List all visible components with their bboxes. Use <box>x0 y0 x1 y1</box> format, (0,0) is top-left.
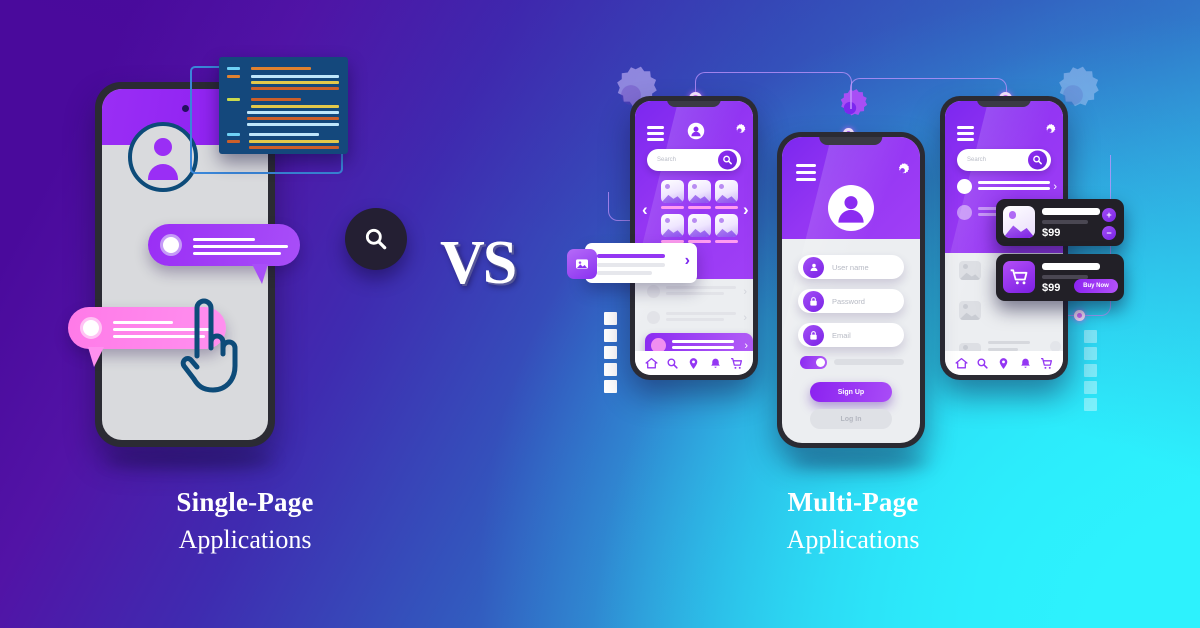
phone-notch <box>977 101 1031 107</box>
gallery-thumb-bar <box>688 206 711 209</box>
mpa-label: Multi-Page Applications <box>703 487 1003 555</box>
search-icon[interactable] <box>718 151 737 170</box>
list-item[interactable]: › <box>647 311 751 324</box>
list-item[interactable]: › <box>957 179 1061 194</box>
product-price: $99 <box>1042 282 1060 294</box>
search-icon[interactable] <box>1028 151 1047 170</box>
pointing-hand-icon <box>175 296 247 396</box>
gallery-screen: Search ‹ › <box>635 101 753 375</box>
decrement-button[interactable]: − <box>1102 226 1116 240</box>
avatar-body <box>148 164 178 180</box>
shop-search-input[interactable]: Search <box>957 149 1051 171</box>
image-icon <box>567 249 597 279</box>
product-price: $99 <box>1042 227 1060 239</box>
list-item-card[interactable]: › <box>585 243 697 283</box>
gallery-thumb[interactable] <box>661 214 684 237</box>
spa-label: Single-Page Applications <box>95 487 395 555</box>
gear-icon[interactable] <box>1042 123 1057 138</box>
gallery-thumb[interactable] <box>715 214 738 237</box>
password-placeholder: Password <box>832 297 865 306</box>
phone-notch <box>819 137 882 145</box>
password-field[interactable]: Password <box>798 289 904 313</box>
remember-toggle[interactable] <box>800 356 827 369</box>
gallery-thumb[interactable] <box>688 180 711 203</box>
gallery-search-placeholder: Search <box>657 157 676 163</box>
buy-now-button[interactable]: Buy Now <box>1074 279 1118 293</box>
avatar-head <box>154 138 172 156</box>
phone-notch <box>667 101 721 107</box>
user-avatar-icon[interactable] <box>687 122 705 140</box>
bell-icon[interactable] <box>709 357 722 370</box>
gear-icon[interactable] <box>894 162 911 179</box>
username-field[interactable]: User name <box>798 255 904 279</box>
gallery-thumb-bar <box>715 206 738 209</box>
login-screen: User name Password Email Sign Up Log In <box>782 137 920 443</box>
chevron-right-icon[interactable]: › <box>743 312 747 324</box>
search-icon[interactable] <box>666 357 679 370</box>
gallery-thumb[interactable] <box>715 180 738 203</box>
cart-icon[interactable] <box>1040 357 1053 370</box>
user-icon <box>803 257 824 278</box>
hamburger-menu-icon[interactable] <box>796 164 816 184</box>
vs-label: VS <box>440 228 515 299</box>
gallery-thumb[interactable] <box>661 180 684 203</box>
gear-icon[interactable] <box>732 123 747 138</box>
product-card-quantity[interactable]: $99 + − <box>996 199 1124 246</box>
spa-label-line1: Single-Page <box>95 487 395 518</box>
user-avatar-icon <box>128 122 198 192</box>
increment-button[interactable]: + <box>1102 208 1116 222</box>
infographic-canvas: VS Search <box>0 0 1200 628</box>
mpa-phone-login: User name Password Email Sign Up Log In <box>777 132 925 448</box>
location-pin-icon[interactable] <box>997 357 1010 370</box>
mpa-phone-gallery: Search ‹ › <box>630 96 758 380</box>
spa-label-line2: Applications <box>95 525 395 555</box>
chevron-left-icon[interactable]: ‹ <box>642 201 648 218</box>
hamburger-menu-icon[interactable] <box>957 126 974 144</box>
phone-shadow <box>105 452 275 468</box>
mpa-label-line1: Multi-Page <box>703 487 1003 518</box>
connector-node <box>1074 310 1085 321</box>
login-button[interactable]: Log In <box>810 409 892 429</box>
search-icon <box>363 226 389 252</box>
lock-icon <box>803 291 824 312</box>
gallery-thumb[interactable] <box>688 214 711 237</box>
location-pin-icon[interactable] <box>687 357 700 370</box>
home-icon[interactable] <box>955 357 968 370</box>
search-icon-badge[interactable] <box>345 208 407 270</box>
camera-dot-icon <box>182 105 189 112</box>
code-window <box>219 57 348 154</box>
image-icon <box>1003 206 1035 238</box>
chevron-right-icon[interactable]: › <box>743 286 747 298</box>
shop-search-placeholder: Search <box>967 157 986 163</box>
chevron-right-icon[interactable]: › <box>743 201 749 218</box>
chat-bubble-purple[interactable] <box>148 224 300 266</box>
bell-icon[interactable] <box>1019 357 1032 370</box>
gallery-thumb-bar <box>715 240 738 243</box>
chat-bubble-tail <box>252 264 268 284</box>
decorative-squares-right <box>1084 330 1097 411</box>
cart-icon <box>1003 261 1035 293</box>
phone-group-shadow <box>790 455 930 468</box>
email-placeholder: Email <box>832 331 851 340</box>
hamburger-menu-icon[interactable] <box>647 126 664 144</box>
home-icon[interactable] <box>645 357 658 370</box>
product-card-buy[interactable]: $99 Buy Now <box>996 254 1124 301</box>
search-icon[interactable] <box>976 357 989 370</box>
bottom-nav <box>945 351 1063 375</box>
chevron-right-icon[interactable]: › <box>1053 181 1057 193</box>
toggle-label-placeholder <box>834 359 904 365</box>
gallery-search-input[interactable]: Search <box>647 149 741 171</box>
user-avatar-icon <box>828 185 874 231</box>
lock-icon <box>803 325 824 346</box>
email-field[interactable]: Email <box>798 323 904 347</box>
gallery-thumb-bar <box>661 206 684 209</box>
username-placeholder: User name <box>832 263 869 272</box>
product-row[interactable] <box>959 301 1059 320</box>
bottom-nav <box>635 351 753 375</box>
mpa-label-line2: Applications <box>703 525 1003 555</box>
signup-button[interactable]: Sign Up <box>810 382 892 402</box>
chevron-right-icon[interactable]: › <box>744 340 748 352</box>
list-item[interactable]: › <box>647 285 751 298</box>
cart-icon[interactable] <box>730 357 743 370</box>
chevron-right-icon[interactable]: › <box>685 252 690 270</box>
decorative-squares-left <box>604 312 617 393</box>
chat-bubble-tail <box>88 347 104 367</box>
